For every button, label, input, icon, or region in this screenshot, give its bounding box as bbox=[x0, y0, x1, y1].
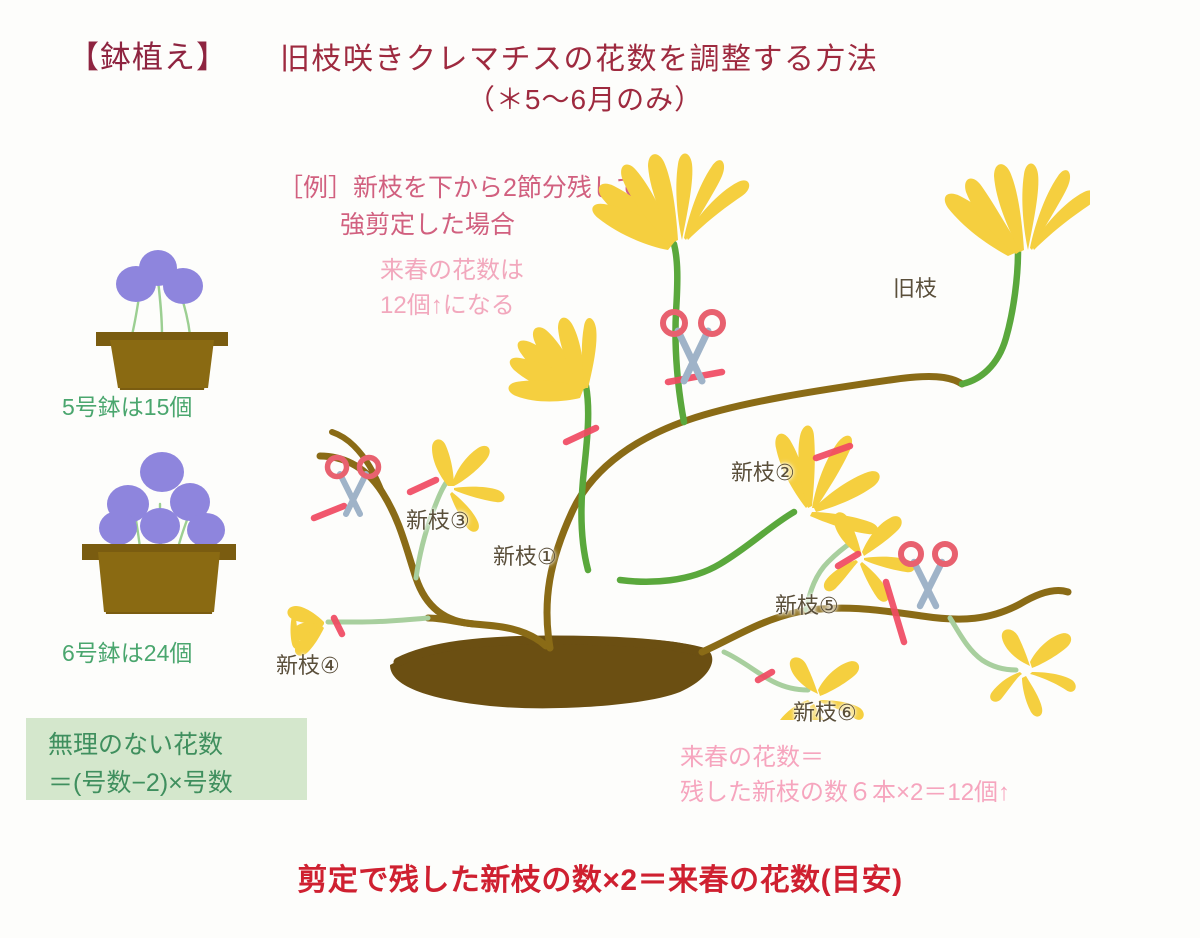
label-old-branch: 旧枝 bbox=[893, 271, 937, 303]
new-branch-4 bbox=[328, 618, 428, 622]
scissors-icon-right bbox=[901, 544, 955, 606]
flower-icon-upper-center bbox=[592, 154, 749, 251]
label-new-branch-3: 新枝③ bbox=[406, 503, 470, 535]
formula-line-2: ＝(号数−2)×号数 bbox=[48, 764, 233, 802]
page-subtitle: （＊5〜6月のみ） bbox=[467, 78, 703, 118]
conclusion-text: 剪定で残した新枝の数×2＝来春の花数(目安) bbox=[297, 855, 902, 899]
pot-icon bbox=[96, 332, 228, 390]
cut-mark-icon-new1 bbox=[566, 428, 596, 442]
old-branch-left-lower bbox=[428, 618, 474, 624]
new-branch-1 bbox=[581, 386, 588, 570]
pot-caption-5go: 5号鉢は15個 bbox=[62, 388, 192, 422]
flower-icon-far-right bbox=[990, 629, 1076, 716]
page-title: 旧枝咲きクレマチスの花数を調整する方法 bbox=[280, 34, 879, 78]
pot-caption-6go: 6号鉢は24個 bbox=[62, 634, 192, 668]
flower-icon bbox=[99, 452, 225, 547]
title-bracket: 【鉢植え】 bbox=[68, 32, 228, 77]
label-new-branch-4: 新枝④ bbox=[276, 648, 340, 680]
cut-mark-icon-left-top bbox=[314, 506, 344, 518]
infographic-canvas: 【鉢植え】 旧枝咲きクレマチスの花数を調整する方法 （＊5〜6月のみ） ［例］新… bbox=[0, 0, 1200, 938]
old-branch-trunk bbox=[547, 377, 962, 648]
new-branch-top-right bbox=[962, 252, 1018, 384]
label-new-branch-1: 新枝① bbox=[493, 539, 557, 571]
formula-line-1: 無理のない花数 bbox=[48, 726, 233, 764]
bottom-note-line-2: 残した新枝の数６本×2＝12個↑ bbox=[680, 775, 1010, 810]
formula-text: 無理のない花数 ＝(号数−2)×号数 bbox=[48, 726, 233, 802]
pot-icon bbox=[82, 544, 236, 614]
plant-diagram bbox=[250, 140, 1090, 720]
new-branch-2 bbox=[620, 512, 794, 582]
label-new-branch-5: 新枝⑤ bbox=[775, 588, 839, 620]
pot-illustration-6go bbox=[60, 430, 260, 615]
flower-icon-new1 bbox=[509, 318, 597, 402]
pot-illustration-5go bbox=[70, 240, 250, 390]
flower-icon-top-right bbox=[945, 164, 1090, 257]
cut-mark-icon-new3 bbox=[410, 480, 436, 492]
label-new-branch-2: 新枝② bbox=[731, 455, 795, 487]
bottom-note-line-1: 来春の花数＝ bbox=[680, 740, 1010, 775]
label-new-branch-6: 新枝⑥ bbox=[793, 695, 857, 727]
bottom-calculation-note: 来春の花数＝ 残した新枝の数６本×2＝12個↑ bbox=[680, 740, 1010, 810]
